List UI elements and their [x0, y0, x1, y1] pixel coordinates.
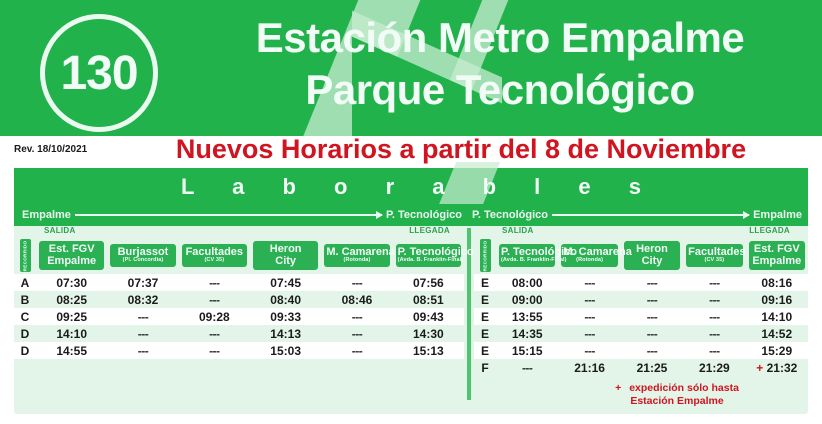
stop-subtitle: (Avda. B. Franklin-Final): [398, 258, 459, 264]
day-type-bar: L a b o r a b l e s: [14, 168, 808, 204]
inbound-header-row: RECORRIDOP. Tecnológico(Avda. B. Frankli…: [474, 237, 808, 274]
stop-chip: HeronCity: [624, 241, 680, 270]
route-number-badge: 130: [40, 14, 158, 132]
route-code: E: [474, 274, 496, 291]
no-service-cell: ---: [558, 274, 620, 291]
stop-header: M. Camarena(Rotonda): [558, 237, 620, 274]
stop-header: Facultades(CV 35): [179, 237, 250, 274]
inbound-body: E08:00---------08:16E09:00---------09:16…: [474, 274, 808, 376]
time-cell: 08:25: [36, 291, 107, 308]
day-type-label: L a b o r a b l e s: [14, 174, 808, 200]
recorrido-label: RECORRIDO: [483, 240, 488, 271]
outbound-timetable: RECORRIDOEst. FGVEmpalmeBurjassot(Pl. Co…: [14, 237, 464, 359]
table-row: E13:55---------14:10: [474, 308, 808, 325]
time-cell: 08:32: [107, 291, 178, 308]
stop-name: HeronCity: [255, 244, 316, 267]
stop-subtitle: (Avda. B. Franklin-Final): [501, 258, 553, 264]
stop-chip: HeronCity: [253, 241, 318, 270]
direction-right-arrow-icon: [552, 214, 749, 216]
route-title-line2: Parque Tecnológico: [180, 64, 820, 116]
time-cell: 14:30: [393, 325, 464, 342]
route-code: E: [474, 308, 496, 325]
no-service-cell: ---: [179, 325, 250, 342]
no-service-cell: ---: [683, 325, 745, 342]
direction-right-origin: P. Tecnológico: [472, 209, 548, 221]
stop-name: Est. FGVEmpalme: [41, 244, 102, 267]
no-service-cell: ---: [558, 291, 620, 308]
recorrido-badge: RECORRIDO: [20, 239, 31, 272]
route-code: D: [14, 342, 36, 359]
time-cell: 09:00: [496, 291, 558, 308]
route-code: E: [474, 342, 496, 359]
recorrido-header: RECORRIDO: [14, 237, 36, 274]
direction-left-destination: P. Tecnológico: [386, 209, 462, 221]
route-code: B: [14, 291, 36, 308]
stop-header: Est. FGVEmpalme: [746, 237, 808, 274]
recorrido-label: RECORRIDO: [23, 240, 28, 271]
left-salida-label: SALIDA: [44, 226, 76, 235]
time-cell: 07:30: [36, 274, 107, 291]
time-cell: 09:33: [250, 308, 321, 325]
time-cell: 09:43: [393, 308, 464, 325]
no-service-cell: ---: [179, 342, 250, 359]
direction-right-destination: Empalme: [753, 209, 802, 221]
stop-subtitle: (CV 35): [184, 258, 245, 264]
no-service-cell: ---: [321, 325, 392, 342]
time-cell: 21:29: [683, 359, 745, 376]
no-service-cell: ---: [107, 308, 178, 325]
stop-subtitle: (Rotonda): [326, 258, 387, 264]
time-cell: 08:00: [496, 274, 558, 291]
outbound-table: SALIDA LLEGADA RECORRIDOEst. FGVEmpalmeB…: [14, 226, 464, 414]
stop-header: Facultades(CV 35): [683, 237, 745, 274]
time-cell: 13:55: [496, 308, 558, 325]
stop-name: Est. FGVEmpalme: [751, 244, 803, 267]
time-cell: 09:25: [36, 308, 107, 325]
time-cell: 07:56: [393, 274, 464, 291]
stop-chip: Burjassot(Pl. Concordia): [110, 244, 175, 267]
time-cell: 21:16: [558, 359, 620, 376]
table-row: D14:55------15:03---15:13: [14, 342, 464, 359]
left-llegada-label: LLEGADA: [409, 226, 450, 235]
route-code: A: [14, 274, 36, 291]
table-row: F---21:1621:2521:29+ 21:32: [474, 359, 808, 376]
stop-chip: P. Tecnológico(Avda. B. Franklin-Final): [499, 244, 555, 267]
stop-header: M. Camarena(Rotonda): [321, 237, 392, 274]
outbound-body: A07:3007:37---07:45---07:56B08:2508:32--…: [14, 274, 464, 359]
route-number: 130: [60, 46, 137, 101]
time-cell: 14:10: [746, 308, 808, 325]
route-code: C: [14, 308, 36, 325]
no-service-cell: ---: [621, 325, 683, 342]
stop-chip: Est. FGVEmpalme: [39, 241, 104, 270]
schedule-panel: L a b o r a b l e s Empalme P. Tecnológi…: [14, 168, 808, 414]
direction-left-origin: Empalme: [22, 209, 71, 221]
stop-header: P. Tecnológico(Avda. B. Franklin-Final): [393, 237, 464, 274]
stop-name: HeronCity: [626, 244, 678, 267]
route-title-line1: Estación Metro Empalme: [180, 12, 820, 64]
no-service-cell: ---: [496, 359, 558, 376]
time-cell: 15:13: [393, 342, 464, 359]
table-row: E08:00---------08:16: [474, 274, 808, 291]
header-banner: 130 Estación Metro Empalme Parque Tecnol…: [0, 0, 822, 136]
no-service-cell: ---: [683, 308, 745, 325]
right-salida-label: SALIDA: [502, 226, 534, 235]
time-cell: 08:51: [393, 291, 464, 308]
no-service-cell: ---: [179, 291, 250, 308]
no-service-cell: ---: [621, 308, 683, 325]
time-cell: + 21:32: [746, 359, 808, 376]
stop-chip: M. Camarena(Rotonda): [324, 244, 389, 267]
stop-subtitle: (CV 35): [688, 258, 740, 264]
no-service-cell: ---: [683, 274, 745, 291]
footnote-line1: expedición sólo hasta: [629, 382, 739, 394]
time-cell: 07:45: [250, 274, 321, 291]
stop-header: P. Tecnológico(Avda. B. Franklin-Final): [496, 237, 558, 274]
stop-chip: M. Camarena(Rotonda): [561, 244, 617, 267]
time-cell: 14:35: [496, 325, 558, 342]
inbound-timetable: RECORRIDOP. Tecnológico(Avda. B. Frankli…: [474, 237, 808, 376]
no-service-cell: ---: [683, 291, 745, 308]
table-row: C09:25---09:2809:33---09:43: [14, 308, 464, 325]
time-cell: 15:15: [496, 342, 558, 359]
no-service-cell: ---: [107, 325, 178, 342]
stop-header: Burjassot(Pl. Concordia): [107, 237, 178, 274]
footnote-symbol: +: [615, 382, 621, 394]
no-service-cell: ---: [558, 342, 620, 359]
direction-bar: Empalme P. Tecnológico P. Tecnológico Em…: [14, 204, 808, 226]
footnote-line2: Estación Empalme: [630, 395, 723, 407]
no-service-cell: ---: [107, 342, 178, 359]
time-cell: 09:16: [746, 291, 808, 308]
time-cell: 07:37: [107, 274, 178, 291]
timetable-poster: 130 Estación Metro Empalme Parque Tecnol…: [0, 0, 822, 424]
table-row: B08:2508:32---08:4008:4608:51: [14, 291, 464, 308]
stop-chip: Facultades(CV 35): [686, 244, 742, 267]
stop-header: Est. FGVEmpalme: [36, 237, 107, 274]
footnote: +expedición sólo hasta Estación Empalme: [562, 382, 792, 408]
stop-chip: P. Tecnológico(Avda. B. Franklin-Final): [396, 244, 461, 267]
time-cell: 09:28: [179, 308, 250, 325]
route-code: E: [474, 325, 496, 342]
direction-right: P. Tecnológico Empalme: [472, 204, 802, 226]
route-code: D: [14, 325, 36, 342]
direction-left-arrow-icon: [75, 214, 382, 216]
revision-date: Rev. 18/10/2021: [14, 144, 87, 155]
no-service-cell: ---: [621, 342, 683, 359]
no-service-cell: ---: [321, 274, 392, 291]
stop-chip: Est. FGVEmpalme: [749, 241, 805, 270]
no-service-cell: ---: [621, 274, 683, 291]
time-cell: 14:55: [36, 342, 107, 359]
time-cell: 21:25: [621, 359, 683, 376]
direction-left: Empalme P. Tecnológico: [22, 204, 462, 226]
stop-header: HeronCity: [250, 237, 321, 274]
notice-bar: Rev. 18/10/2021 Nuevos Horarios a partir…: [0, 136, 822, 165]
stop-subtitle: (Rotonda): [563, 258, 615, 264]
time-cell: 15:29: [746, 342, 808, 359]
table-row: A07:3007:37---07:45---07:56: [14, 274, 464, 291]
table-row: E09:00---------09:16: [474, 291, 808, 308]
recorrido-badge: RECORRIDO: [480, 239, 491, 272]
footnote-marker: +: [756, 361, 763, 375]
time-cell: 14:13: [250, 325, 321, 342]
route-code: F: [474, 359, 496, 376]
time-cell: 14:10: [36, 325, 107, 342]
no-service-cell: ---: [558, 325, 620, 342]
time-cell: 15:03: [250, 342, 321, 359]
no-service-cell: ---: [321, 342, 392, 359]
no-service-cell: ---: [321, 308, 392, 325]
time-cell: 08:16: [746, 274, 808, 291]
no-service-cell: ---: [179, 274, 250, 291]
table-row: D14:10------14:13---14:30: [14, 325, 464, 342]
no-service-cell: ---: [621, 291, 683, 308]
recorrido-header: RECORRIDO: [474, 237, 496, 274]
no-service-cell: ---: [558, 308, 620, 325]
time-cell: 08:46: [321, 291, 392, 308]
time-cell: 14:52: [746, 325, 808, 342]
route-code: E: [474, 291, 496, 308]
right-llegada-label: LLEGADA: [749, 226, 790, 235]
no-service-cell: ---: [683, 342, 745, 359]
new-schedule-notice: Nuevos Horarios a partir del 8 de Noviem…: [108, 134, 814, 165]
time-cell: 08:40: [250, 291, 321, 308]
stop-chip: Facultades(CV 35): [182, 244, 247, 267]
route-title: Estación Metro Empalme Parque Tecnológic…: [180, 12, 820, 115]
table-row: E14:35---------14:52: [474, 325, 808, 342]
table-row: E15:15---------15:29: [474, 342, 808, 359]
outbound-header-row: RECORRIDOEst. FGVEmpalmeBurjassot(Pl. Co…: [14, 237, 464, 274]
stop-subtitle: (Pl. Concordia): [112, 258, 173, 264]
